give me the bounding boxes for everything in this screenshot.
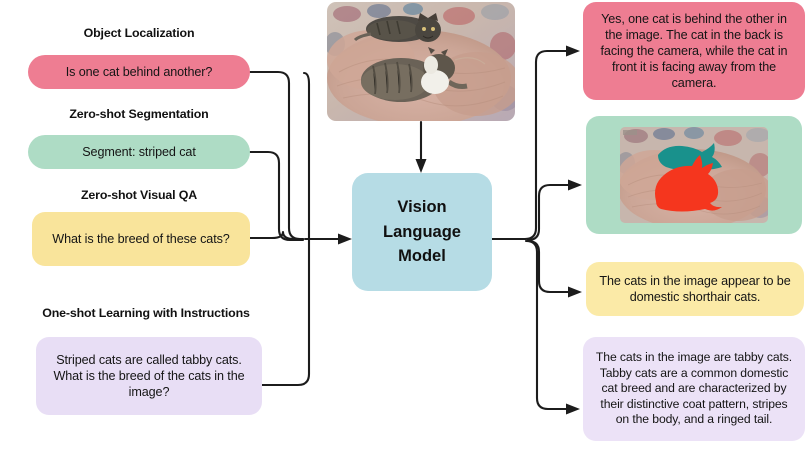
output-text: The cats in the image are tabby cats. Ta… (593, 350, 795, 428)
task-caption-object-localization: Object Localization (28, 26, 250, 40)
model-label-line1: Vision (397, 195, 446, 220)
diagram-canvas: Object Localization Is one cat behind an… (0, 0, 811, 450)
task-prompt-text: What is the breed of these cats? (52, 231, 229, 247)
task-prompt-text: Segment: striped cat (82, 144, 196, 160)
input-photo-cats (327, 2, 515, 121)
task-prompt-zero-shot-segmentation[interactable]: Segment: striped cat (28, 135, 250, 169)
task-prompt-text: Is one cat behind another? (66, 64, 213, 80)
output-one-shot-answer: The cats in the image are tabby cats. Ta… (583, 337, 805, 441)
model-label-line3: Model (398, 244, 446, 269)
model-label-line2: Language (383, 220, 461, 245)
task-prompt-zero-shot-visual-qa[interactable]: What is the breed of these cats? (32, 212, 250, 266)
task-caption-zero-shot-segmentation: Zero-shot Segmentation (28, 107, 250, 121)
vision-language-model-node[interactable]: Vision Language Model (352, 173, 492, 291)
segmentation-result-photo (620, 127, 768, 223)
task-prompt-text: Striped cats are called tabby cats. What… (46, 352, 252, 400)
task-caption-one-shot-learning: One-shot Learning with Instructions (12, 306, 280, 320)
output-text: Yes, one cat is behind the other in the … (595, 11, 793, 92)
task-prompt-object-localization[interactable]: Is one cat behind another? (28, 55, 250, 89)
output-segmentation-answer (586, 116, 802, 234)
output-visual-qa-answer: The cats in the image appear to be domes… (586, 262, 804, 316)
task-prompt-one-shot-learning[interactable]: Striped cats are called tabby cats. What… (36, 337, 262, 415)
task-caption-zero-shot-visual-qa: Zero-shot Visual QA (28, 188, 250, 202)
output-text: The cats in the image appear to be domes… (598, 273, 792, 305)
output-localization-answer: Yes, one cat is behind the other in the … (583, 2, 805, 100)
